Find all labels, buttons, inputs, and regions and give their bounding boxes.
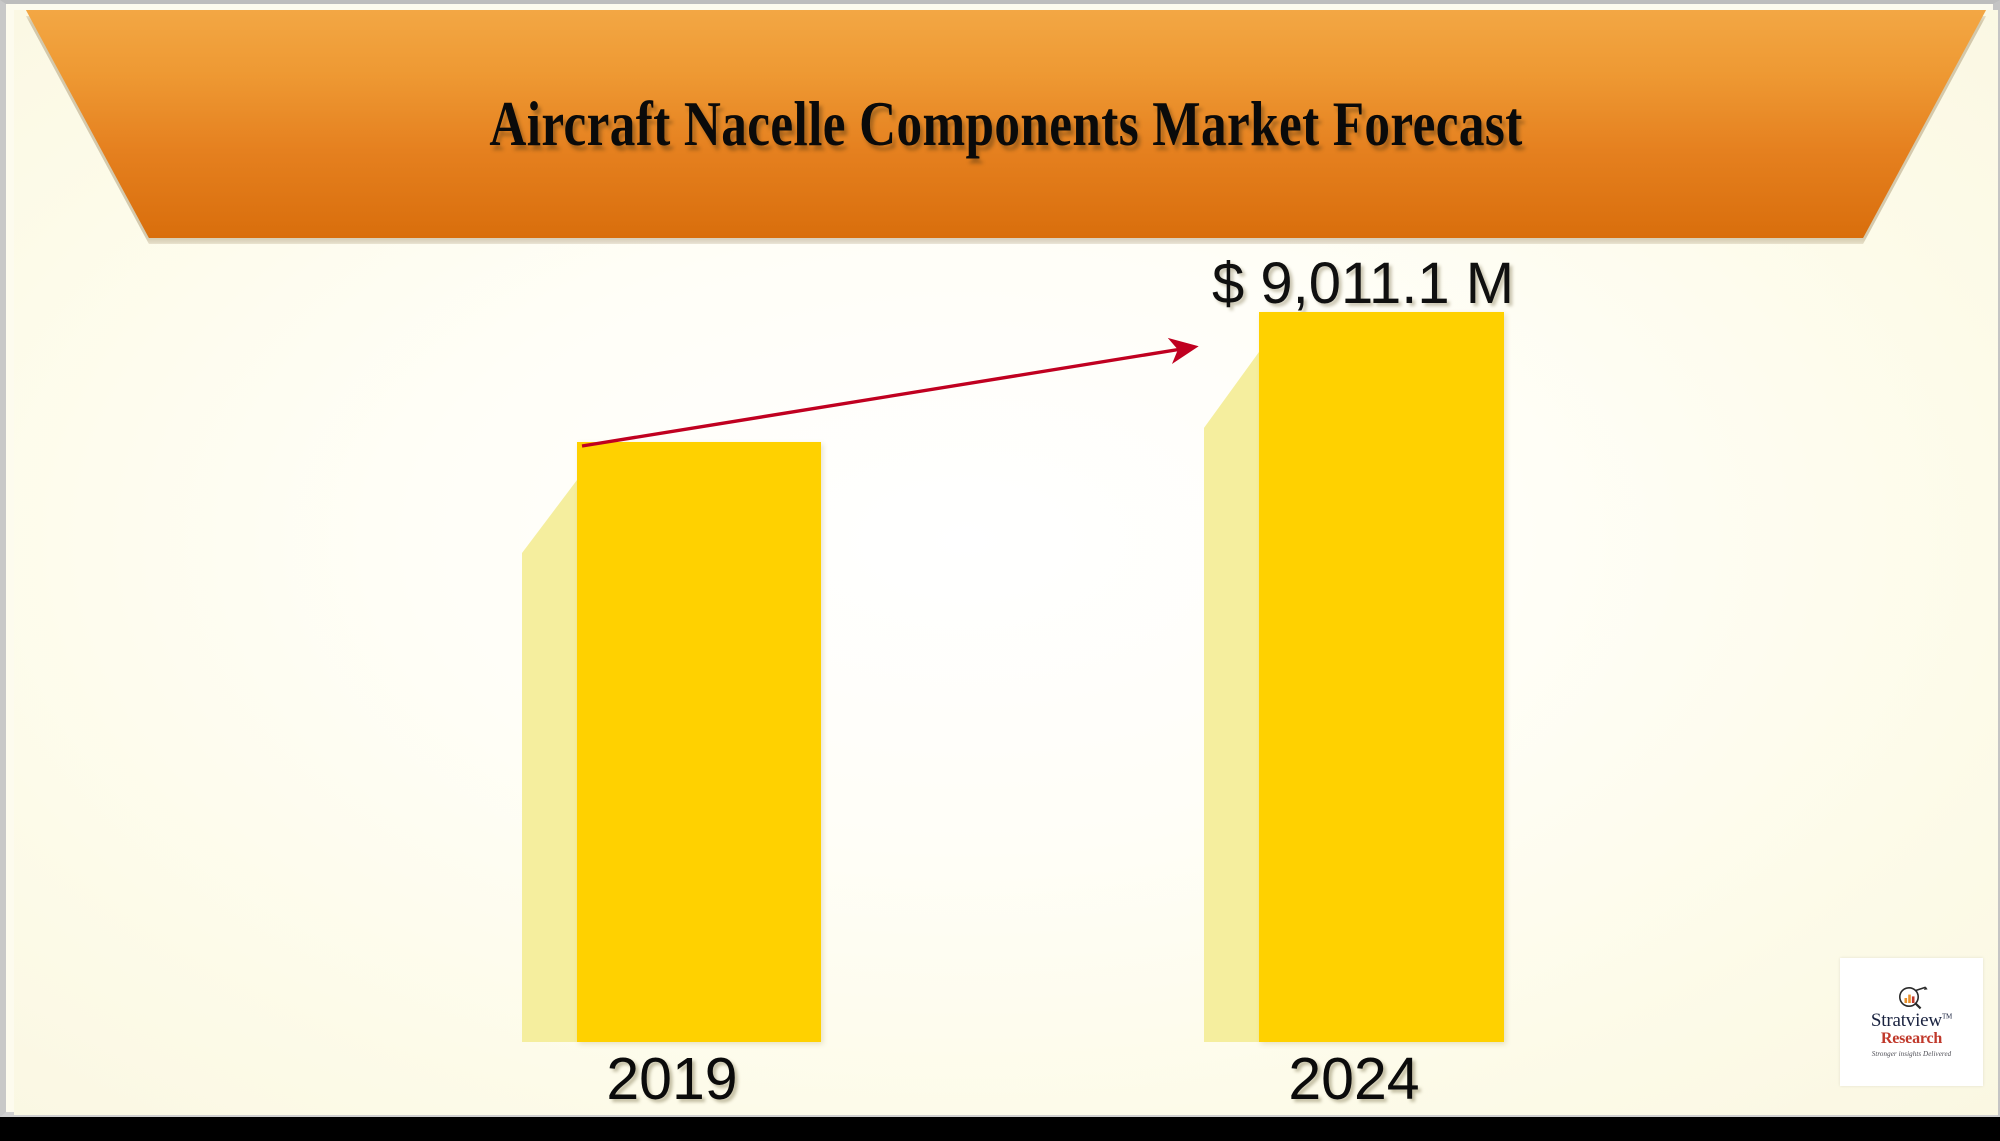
- growth-arrow: [14, 242, 1998, 1115]
- title-banner: Aircraft Nacelle Components Market Forec…: [14, 10, 1998, 242]
- magnifier-bar-chart-icon: [1895, 986, 1929, 1010]
- bar-side-2024: [1204, 352, 1259, 1042]
- value-callout-2024: $ 9,011.1 M: [1212, 250, 1514, 317]
- bar-front-2019[interactable]: [577, 442, 821, 1042]
- bar-front-2024[interactable]: [1259, 312, 1504, 1042]
- logo-wordmark-text: Stratview: [1871, 1010, 1942, 1031]
- logo-wordmark: StratviewTM: [1871, 1011, 1952, 1030]
- slide-frame: Aircraft Nacelle Components Market Forec…: [0, 0, 2000, 1117]
- bar-chart: $ 9,011.1 M 2019 2024: [14, 242, 1998, 1115]
- logo-research-text: Research: [1881, 1030, 1942, 1048]
- slide-canvas: Aircraft Nacelle Components Market Forec…: [0, 0, 2000, 1141]
- logo-tagline: Stronger insights Delivered: [1872, 1050, 1952, 1058]
- bar-label-2019: 2019: [522, 1045, 822, 1113]
- page-title: Aircraft Nacelle Components Market Forec…: [212, 10, 1799, 238]
- bottom-black-band: [0, 1117, 2000, 1141]
- bar-group-2024: [1204, 312, 1504, 1042]
- bar-group-2019: [522, 442, 822, 1042]
- bar-side-2019: [522, 480, 577, 1042]
- bar-label-2024: 2024: [1204, 1045, 1504, 1113]
- logo-trademark: TM: [1942, 1012, 1952, 1020]
- stratview-research-logo: StratviewTM Research Stronger insights D…: [1840, 958, 1983, 1086]
